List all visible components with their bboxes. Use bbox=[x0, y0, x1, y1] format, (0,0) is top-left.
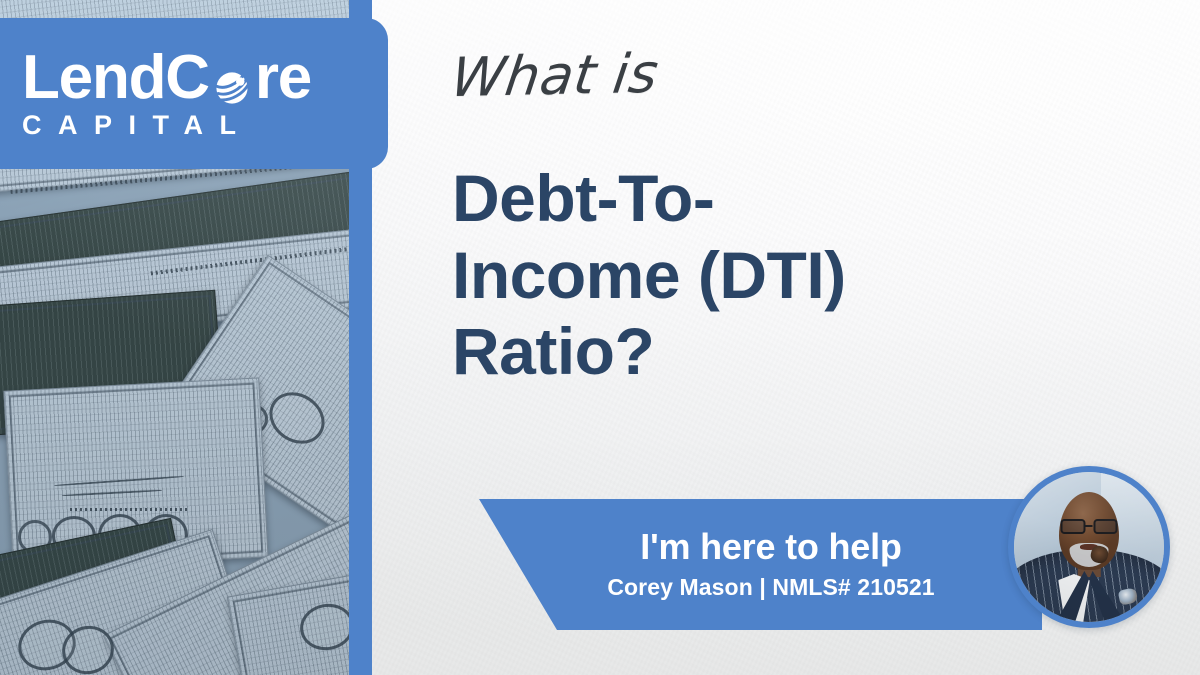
logo-tagline: CAPITAL bbox=[22, 112, 388, 139]
cta-subtitle: Corey Mason | NMLS# 210521 bbox=[607, 574, 934, 601]
cta-banner: I'm here to help Corey Mason | NMLS# 210… bbox=[462, 499, 1042, 630]
cta-title: I'm here to help bbox=[640, 528, 901, 566]
avatar-photo bbox=[1014, 472, 1164, 622]
eyebrow-text: What is bbox=[447, 42, 662, 109]
logo-word-primary: LendC bbox=[22, 48, 209, 108]
logo-wordmark: LendC re bbox=[22, 48, 388, 108]
slide-canvas: LendC re CAPITAL What is Debt-To- Income… bbox=[0, 0, 1200, 675]
page-title-line-2: Income (DTI) bbox=[452, 237, 1012, 314]
page-title-line-1: Debt-To- bbox=[452, 160, 1012, 237]
globe-swoosh-icon bbox=[210, 60, 254, 104]
page-title-line-3: Ratio? bbox=[452, 313, 1012, 390]
avatar bbox=[1008, 466, 1170, 628]
logo-banner: LendC re CAPITAL bbox=[0, 18, 388, 169]
page-title: Debt-To- Income (DTI) Ratio? bbox=[452, 160, 1012, 390]
logo-word-secondary: re bbox=[255, 48, 311, 108]
